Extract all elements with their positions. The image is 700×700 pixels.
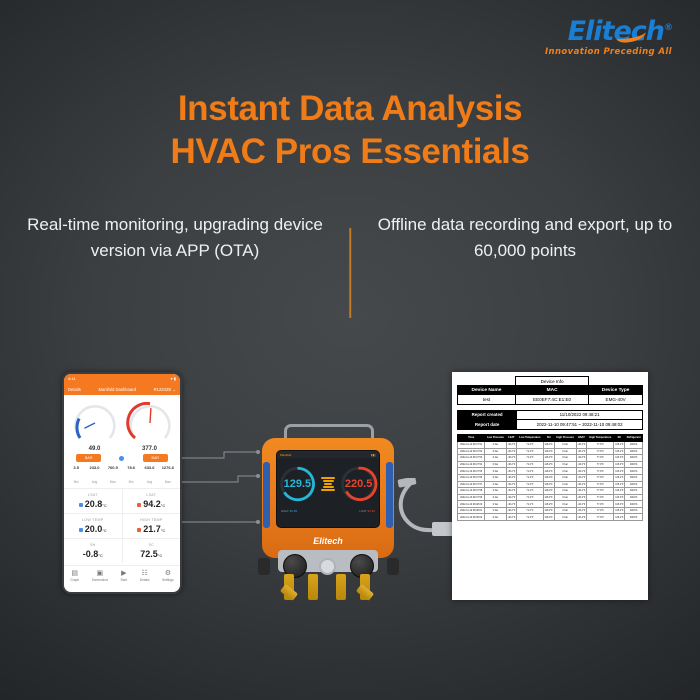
- tab-label: Screenshot: [92, 578, 108, 582]
- minmax-value: 233.0: [85, 465, 103, 470]
- table-cell: 77.0°F: [587, 514, 614, 521]
- table-cell: -46.2°F: [506, 494, 517, 501]
- tab-graph[interactable]: ▤Graph: [70, 570, 79, 582]
- col-device-type: Device Type: [589, 386, 643, 395]
- table-cell: 115.4°F: [614, 514, 625, 521]
- readout-label: LSAT: [64, 493, 122, 497]
- table-cell: 0 bar: [554, 448, 576, 455]
- meta-label-created: Report created: [458, 410, 517, 420]
- meta-value-created: 11/10/2022 09:48:21: [517, 410, 643, 420]
- table-cell: 115.4°F: [614, 474, 625, 481]
- high-color-swatch: [137, 528, 141, 532]
- high-pressure-value: 377.0: [126, 446, 174, 452]
- tab-start[interactable]: ▶Start: [120, 570, 127, 582]
- measurement-data-table: TimeLow PressureLSATLow TemperatureSHHig…: [457, 434, 643, 521]
- table-cell: R407A: [625, 474, 643, 481]
- valve-port-3: [336, 574, 346, 600]
- minmax-cell: 78.6Min: [122, 465, 140, 488]
- table-column-header: Time: [458, 434, 485, 441]
- screenshot-icon: ▣: [92, 570, 108, 577]
- table-column-header: SH: [543, 434, 554, 441]
- meta-value-date: 2022-11-10 09:47:51 ~ 2022-11-10 09:48:0…: [517, 420, 643, 430]
- manifold-gauge-device: Manifold ▮▮▯ 129.5: [256, 424, 401, 619]
- table-cell: 77.0°F: [587, 468, 614, 475]
- readout-number: 94.2: [143, 499, 161, 509]
- table-cell: -46.2°F: [576, 514, 587, 521]
- app-tab-bar: ▤Graph ▣Screenshot ▶Start ☷Details ⚙Sett…: [64, 565, 180, 587]
- table-row: 2022-11-10 09:47:530 bar-46.2°F71.4°F118…: [458, 455, 643, 462]
- table-cell: R407A: [625, 501, 643, 508]
- readout-row-2: LOW TEMP 20.0°C HIGH TEMP 21.7°C: [64, 513, 180, 538]
- feature-left: Real-time monitoring, upgrading device v…: [0, 212, 350, 265]
- center-bar: [321, 489, 335, 491]
- table-cell: 118.2°F: [543, 455, 554, 462]
- table-cell: -46.2°F: [506, 474, 517, 481]
- table-cell: 0 bar: [554, 461, 576, 468]
- empty-cell: [458, 377, 516, 386]
- fade-mask: [452, 586, 648, 600]
- table-cell: 71.4°F: [517, 494, 544, 501]
- table-cell: 115.4°F: [614, 468, 625, 475]
- table-cell: 2022-11-10 09:47:54: [458, 461, 485, 468]
- table-cell: 115.4°F: [614, 488, 625, 495]
- brand-name-text: Elitech: [568, 16, 664, 47]
- table-header-row: TimeLow PressureLSATLow TemperatureSHHig…: [458, 434, 643, 441]
- cell-label: HSAT: [281, 509, 289, 513]
- device-info-title: Device Info: [515, 377, 588, 386]
- headline-line-2: HVAC Pros Essentials: [0, 131, 700, 174]
- tab-details[interactable]: ☷Details: [140, 570, 150, 582]
- device-screen-center: [318, 476, 338, 493]
- minmax-row: 3.5Min 233.0Avg 760.5Max 78.6Min 633.6Av…: [67, 465, 177, 488]
- minmax-label: Min: [74, 480, 79, 484]
- readout-lsat-high: LSAT 94.2°C: [123, 489, 181, 513]
- device-high-gauge: 220.5: [338, 462, 379, 506]
- readout-label: HIGH TEMP: [123, 518, 181, 522]
- table-cell: 0 bar: [554, 441, 576, 448]
- table-cell: 71.4°F: [517, 501, 544, 508]
- device-side-grip-left: [263, 462, 270, 528]
- device-body: Manifold ▮▮▯ 129.5: [262, 438, 394, 558]
- brand-name: Elitech®: [568, 18, 672, 45]
- table-cell: 77.0°F: [587, 461, 614, 468]
- device-high-value: 220.5: [338, 462, 379, 506]
- low-unit-button[interactable]: BAR: [76, 454, 101, 462]
- table-cell: R407A: [625, 441, 643, 448]
- side-knob-left[interactable]: [258, 558, 270, 575]
- table-cell: 118.2°F: [543, 514, 554, 521]
- device-low-value: 129.5: [277, 462, 318, 506]
- valve-port-4: [360, 574, 370, 600]
- table-column-header: Low Temperature: [517, 434, 544, 441]
- table-cell: R407A: [625, 494, 643, 501]
- readout-unit: °C: [102, 503, 107, 508]
- sync-indicator-icon: [119, 456, 124, 461]
- table-cell: 118.2°F: [543, 448, 554, 455]
- minmax-label: Avg: [92, 480, 97, 484]
- table-cell: 0 bar: [485, 488, 506, 495]
- table-cell: -46.2°F: [576, 494, 587, 501]
- readout-value: 72.5°C: [123, 549, 181, 559]
- table-cell: 118.2°F: [543, 474, 554, 481]
- val-device-name: test: [458, 395, 516, 404]
- gauge-row: 49.0 377.0: [67, 398, 177, 452]
- table-cell: -46.2°F: [576, 474, 587, 481]
- readout-lsat-low: LSAT 20.8°C: [64, 489, 123, 513]
- table-cell: 77.0°F: [587, 448, 614, 455]
- col-mac: MAC: [515, 386, 588, 395]
- tab-label: Settings: [162, 578, 174, 582]
- readout-number: -0.8: [83, 549, 99, 559]
- table-cell: -46.2°F: [506, 441, 517, 448]
- graph-icon: ▤: [70, 570, 79, 577]
- readout-label: LSAT: [123, 493, 181, 497]
- table-cell: 2022-11-10 09:47:59: [458, 494, 485, 501]
- table-cell: -46.2°F: [506, 448, 517, 455]
- device-low-gauge: 129.5: [277, 462, 318, 506]
- table-cell: 71.4°F: [517, 441, 544, 448]
- table-cell: 0 bar: [485, 468, 506, 475]
- battery-icon: ▮▮▯: [371, 453, 376, 457]
- readout-number: 21.7: [143, 524, 161, 534]
- table-row: 2022-11-10 09:47:540 bar-46.2°F71.4°F118…: [458, 461, 643, 468]
- minmax-label: Min: [129, 480, 134, 484]
- high-unit-button[interactable]: BAR: [143, 454, 168, 462]
- readout-row-3: SH -0.8°C SC 72.5°C: [64, 538, 180, 563]
- table-cell: 0 bar: [554, 514, 576, 521]
- table-cell: 0 bar: [554, 455, 576, 462]
- minmax-label: Avg: [147, 480, 152, 484]
- readout-low-temp: LOW TEMP 20.0°C: [64, 514, 123, 538]
- minmax-value: 3.5: [67, 465, 85, 470]
- device-info-table: Device Info Device NameMACDevice Type te…: [457, 376, 643, 405]
- table-cell: R407A: [625, 507, 643, 514]
- table-cell: 77.0°F: [587, 481, 614, 488]
- phone-status-bar: 4:41 ▾ ▮: [64, 374, 180, 383]
- table-cell: -46.2°F: [576, 441, 587, 448]
- minmax-value: 633.6: [140, 465, 158, 470]
- table-cell: 0 bar: [485, 481, 506, 488]
- device-side-grip-right: [386, 462, 393, 528]
- table-cell: 0 bar: [485, 455, 506, 462]
- table-cell: 2022-11-10 09:47:53: [458, 455, 485, 462]
- table-cell: 2022-11-10 09:47:57: [458, 481, 485, 488]
- table-cell: R407A: [625, 488, 643, 495]
- table-cell: 0 bar: [554, 488, 576, 495]
- cell-label: LSAT: [359, 509, 366, 513]
- device-brand-label: Elitech: [262, 536, 394, 546]
- device-cell-lsat: LSAT 94.95: [359, 510, 375, 514]
- readout-label: LOW TEMP: [64, 518, 122, 522]
- table-column-header: High Temperature: [587, 434, 614, 441]
- minmax-cell: 633.6Avg: [140, 465, 158, 488]
- table-cell: -46.2°F: [576, 507, 587, 514]
- table-cell: -46.2°F: [506, 501, 517, 508]
- table-column-header: SC: [614, 434, 625, 441]
- table-cell: 0 bar: [485, 494, 506, 501]
- table-cell: 115.4°F: [614, 455, 625, 462]
- low-pressure-gauge: [71, 401, 119, 445]
- table-cell: 118.2°F: [543, 441, 554, 448]
- data-report-document: Device Info Device NameMACDevice Type te…: [452, 372, 648, 600]
- table-cell: 71.4°F: [517, 474, 544, 481]
- device-screen-main: 129.5 220.5: [277, 458, 379, 510]
- readout-unit: °C: [161, 528, 166, 533]
- play-icon: ▶: [120, 570, 127, 577]
- valve-port-1: [284, 574, 294, 600]
- table-cell: 2022-11-10 09:47:52: [458, 448, 485, 455]
- readout-unit: °C: [158, 553, 163, 558]
- table-row: 2022-11-10 09:47:560 bar-46.2°F71.4°F118…: [458, 474, 643, 481]
- table-cell: R407A: [625, 461, 643, 468]
- readout-number: 20.8: [85, 499, 103, 509]
- minmax-cell: 233.0Avg: [85, 465, 103, 488]
- minmax-label: Max: [110, 480, 116, 484]
- readout-unit: °C: [161, 503, 166, 508]
- table-column-header: High Pressure: [554, 434, 576, 441]
- low-color-swatch: [79, 528, 83, 532]
- table-cell: 115.4°F: [614, 507, 625, 514]
- minmax-value: 760.5: [104, 465, 122, 470]
- readout-unit: °C: [102, 528, 107, 533]
- table-cell: 71.4°F: [517, 514, 544, 521]
- poster-background: Elitech® Innovation Preceding All Instan…: [0, 0, 700, 700]
- high-pressure-gauge-block: 377.0: [126, 401, 174, 452]
- readout-value: 20.0°C: [64, 524, 122, 534]
- table-column-header: HSAT: [576, 434, 587, 441]
- table-cell: 0 bar: [554, 507, 576, 514]
- report-meta-table: Report created11/10/2022 09:48:21 Report…: [457, 410, 643, 430]
- table-row: 2022-11-10 09:47:520 bar-46.2°F71.4°F118…: [458, 448, 643, 455]
- readout-value: 20.8°C: [64, 499, 122, 509]
- table-row: 2022-11-10 09:48:020 bar-46.2°F71.4°F118…: [458, 514, 643, 521]
- table-cell: -46.2°F: [576, 448, 587, 455]
- table-cell: 77.0°F: [587, 455, 614, 462]
- table-cell: 71.4°F: [517, 455, 544, 462]
- app-body: 49.0 377.0 BAR BAR 3.5Min 233.0Avg 760.5…: [64, 395, 180, 488]
- tab-screenshot[interactable]: ▣Screenshot: [92, 570, 108, 582]
- low-pressure-value: 49.0: [71, 446, 119, 452]
- center-bar: [323, 480, 334, 482]
- table-cell: 115.4°F: [614, 494, 625, 501]
- table-cell: 118.2°F: [543, 461, 554, 468]
- table-cell: -46.2°F: [576, 501, 587, 508]
- table-cell: 115.4°F: [614, 461, 625, 468]
- table-row: 2022-11-10 09:47:580 bar-46.2°F71.4°F118…: [458, 488, 643, 495]
- table-cell: R407A: [625, 481, 643, 488]
- device-screen-title: Manifold: [280, 453, 291, 457]
- table-cell: R407A: [625, 468, 643, 475]
- table-cell: -46.2°F: [576, 481, 587, 488]
- meta-label-date: Report date: [458, 420, 517, 430]
- col-device-name: Device Name: [458, 386, 516, 395]
- table-column-header: Low Pressure: [485, 434, 506, 441]
- table-cell: 0 bar: [485, 514, 506, 521]
- device-screen: Manifold ▮▮▯ 129.5: [276, 450, 380, 528]
- table-cell: 71.4°F: [517, 481, 544, 488]
- device-screen-topbar: Manifold ▮▮▯: [277, 451, 379, 458]
- table-cell: 77.0°F: [587, 488, 614, 495]
- readout-value: 94.2°C: [123, 499, 181, 509]
- center-bar: [324, 483, 332, 485]
- minmax-label: Max: [165, 480, 171, 484]
- table-cell: 118.2°F: [543, 468, 554, 475]
- headline-line-1: Instant Data Analysis: [0, 88, 700, 131]
- details-icon: ☷: [140, 570, 150, 577]
- minmax-cell: 1276.6Max: [159, 465, 177, 488]
- table-cell: 2022-11-10 09:48:00: [458, 501, 485, 508]
- table-cell: 77.0°F: [587, 494, 614, 501]
- low-pressure-gauge-block: 49.0: [71, 401, 119, 452]
- minmax-value: 1276.6: [159, 465, 177, 470]
- readout-label: SH: [64, 543, 122, 547]
- table-cell: 0 bar: [554, 494, 576, 501]
- cell-value: 94.95: [367, 509, 375, 513]
- gauge-unit-buttons: BAR BAR: [67, 454, 177, 462]
- readout-superheat: SH -0.8°C: [64, 539, 123, 563]
- table-cell: 0 bar: [485, 448, 506, 455]
- table-cell: 2022-11-10 09:48:02: [458, 514, 485, 521]
- table-cell: 2022-11-10 09:47:51: [458, 441, 485, 448]
- high-color-swatch: [137, 503, 141, 507]
- table-cell: 71.4°F: [517, 461, 544, 468]
- table-cell: -46.2°F: [576, 455, 587, 462]
- table-cell: -46.2°F: [506, 468, 517, 475]
- table-cell: -46.2°F: [506, 507, 517, 514]
- tab-label: Start: [120, 578, 127, 582]
- empty-cell: [589, 377, 643, 386]
- brand-tagline: Innovation Preceding All: [545, 47, 672, 57]
- table-cell: 115.4°F: [614, 501, 625, 508]
- phone-app-mockup: 4:41 ▾ ▮ Details Manifold Dashboard R123…: [62, 372, 182, 594]
- table-row: 2022-11-10 09:47:570 bar-46.2°F71.4°F118…: [458, 481, 643, 488]
- table-cell: 0 bar: [554, 501, 576, 508]
- low-color-swatch: [79, 503, 83, 507]
- table-cell: 0 bar: [554, 481, 576, 488]
- table-cell: -46.2°F: [576, 488, 587, 495]
- table-cell: 118.2°F: [543, 488, 554, 495]
- high-pressure-gauge: [126, 401, 174, 445]
- readout-value: 21.7°C: [123, 524, 181, 534]
- valve-port-2: [308, 574, 318, 600]
- tab-label: Details: [140, 578, 150, 582]
- table-cell: 0 bar: [485, 507, 506, 514]
- table-cell: R407A: [625, 448, 643, 455]
- table-row: 2022-11-10 09:48:010 bar-46.2°F71.4°F118…: [458, 507, 643, 514]
- minmax-cell: 760.5Max: [104, 465, 122, 488]
- table-row: 2022-11-10 09:47:590 bar-46.2°F71.4°F118…: [458, 494, 643, 501]
- table-cell: -46.2°F: [506, 461, 517, 468]
- table-cell: 115.4°F: [614, 441, 625, 448]
- table-cell: 118.2°F: [543, 507, 554, 514]
- table-cell: 0 bar: [554, 468, 576, 475]
- device-cell-hsat: HSAT 46.25: [281, 510, 297, 514]
- minmax-value: 78.6: [122, 465, 140, 470]
- table-cell: 0 bar: [554, 474, 576, 481]
- table-cell: 77.0°F: [587, 441, 614, 448]
- table-cell: 77.0°F: [587, 507, 614, 514]
- readout-subcool: SC 72.5°C: [123, 539, 181, 563]
- status-time: 4:41: [68, 376, 76, 381]
- side-knob-right[interactable]: [387, 558, 399, 575]
- table-cell: R407A: [625, 514, 643, 521]
- table-row: 2022-11-10 09:47:510 bar-46.2°F71.4°F118…: [458, 441, 643, 448]
- table-cell: 71.4°F: [517, 448, 544, 455]
- val-device-type: EMG-40V: [589, 395, 643, 404]
- readout-number: 20.0: [85, 524, 103, 534]
- table-cell: R407A: [625, 455, 643, 462]
- table-cell: -46.2°F: [506, 488, 517, 495]
- device-screen-bottom: HSAT 46.25 LSAT 94.95: [277, 510, 379, 514]
- back-button[interactable]: Details: [68, 387, 81, 392]
- table-cell: 71.4°F: [517, 468, 544, 475]
- table-cell: 2022-11-10 09:47:58: [458, 488, 485, 495]
- center-bar: [321, 477, 335, 479]
- table-cell: 0 bar: [485, 461, 506, 468]
- brand-logo: Elitech® Innovation Preceding All: [545, 18, 672, 57]
- readout-value: -0.8°C: [64, 549, 122, 559]
- table-cell: 2022-11-10 09:47:56: [458, 474, 485, 481]
- table-cell: 2022-11-10 09:47:55: [458, 468, 485, 475]
- page-title: Instant Data Analysis HVAC Pros Essentia…: [0, 88, 700, 173]
- table-cell: 0 bar: [485, 474, 506, 481]
- table-cell: -46.2°F: [506, 481, 517, 488]
- table-cell: 115.4°F: [614, 481, 625, 488]
- table-cell: 0 bar: [485, 441, 506, 448]
- table-cell: 118.2°F: [543, 481, 554, 488]
- cell-value: 46.25: [290, 509, 298, 513]
- tab-label: Graph: [70, 578, 79, 582]
- table-cell: -46.2°F: [506, 514, 517, 521]
- table-cell: 77.0°F: [587, 474, 614, 481]
- connector-lines: [182, 450, 262, 550]
- feature-columns: Real-time monitoring, upgrading device v…: [0, 212, 700, 265]
- refrigerant-selector[interactable]: R1234ZE ⌄: [154, 387, 176, 392]
- table-cell: 115.4°F: [614, 448, 625, 455]
- readout-high-temp: HIGH TEMP 21.7°C: [123, 514, 181, 538]
- app-title: Manifold Dashboard: [98, 387, 135, 392]
- table-row: 2022-11-10 09:48:000 bar-46.2°F71.4°F118…: [458, 501, 643, 508]
- table-column-header: Refrigerant: [625, 434, 643, 441]
- table-cell: -46.2°F: [576, 468, 587, 475]
- table-cell: 2022-11-10 09:48:01: [458, 507, 485, 514]
- tab-settings[interactable]: ⚙Settings: [162, 570, 174, 582]
- table-cell: 77.0°F: [587, 501, 614, 508]
- table-cell: 71.4°F: [517, 507, 544, 514]
- readout-number: 72.5: [140, 549, 158, 559]
- readout-row-1: LSAT 20.8°C LSAT 94.2°C: [64, 488, 180, 513]
- sight-glass: [319, 558, 336, 575]
- table-row: 2022-11-10 09:47:550 bar-46.2°F71.4°F118…: [458, 468, 643, 475]
- val-mac: EE0EF7:4C:E1:E0: [515, 395, 588, 404]
- registered-trademark-icon: ®: [664, 23, 672, 33]
- table-cell: -46.2°F: [506, 455, 517, 462]
- feature-right: Offline data recording and export, up to…: [350, 212, 700, 265]
- table-cell: 118.2°F: [543, 501, 554, 508]
- gear-icon: ⚙: [162, 570, 174, 577]
- table-column-header: LSAT: [506, 434, 517, 441]
- table-cell: -46.2°F: [576, 461, 587, 468]
- readout-unit: °C: [98, 553, 103, 558]
- minmax-cell: 3.5Min: [67, 465, 85, 488]
- readout-label: SC: [123, 543, 181, 547]
- table-cell: 0 bar: [485, 501, 506, 508]
- table-cell: 118.2°F: [543, 494, 554, 501]
- column-divider: [349, 228, 351, 318]
- table-cell: 71.4°F: [517, 488, 544, 495]
- center-bar: [323, 486, 334, 488]
- status-icons: ▾ ▮: [171, 376, 176, 381]
